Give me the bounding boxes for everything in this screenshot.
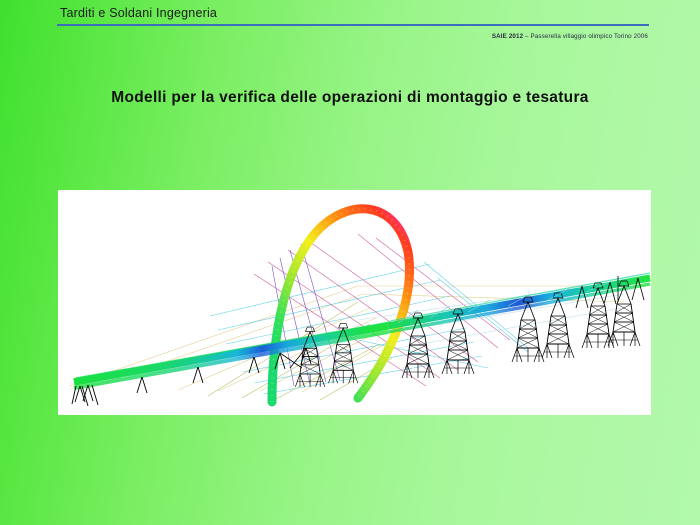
header-company-name: Tarditi e Soldani Ingegneria [60,6,217,20]
header-event-label: SAIE 2012 – Passerella villaggio olimpic… [0,33,648,40]
slide: Tarditi e Soldani Ingegneria SAIE 2012 –… [0,0,700,525]
header-event-bold: SAIE 2012 [492,33,523,40]
fem-model-drawing [58,190,651,415]
fem-model-figure [58,190,651,415]
page-title: Modelli per la verifica delle operazioni… [0,89,700,107]
header-rule [57,24,649,26]
header-event-rest: – Passerella villaggio olimpico Torino 2… [523,33,648,40]
